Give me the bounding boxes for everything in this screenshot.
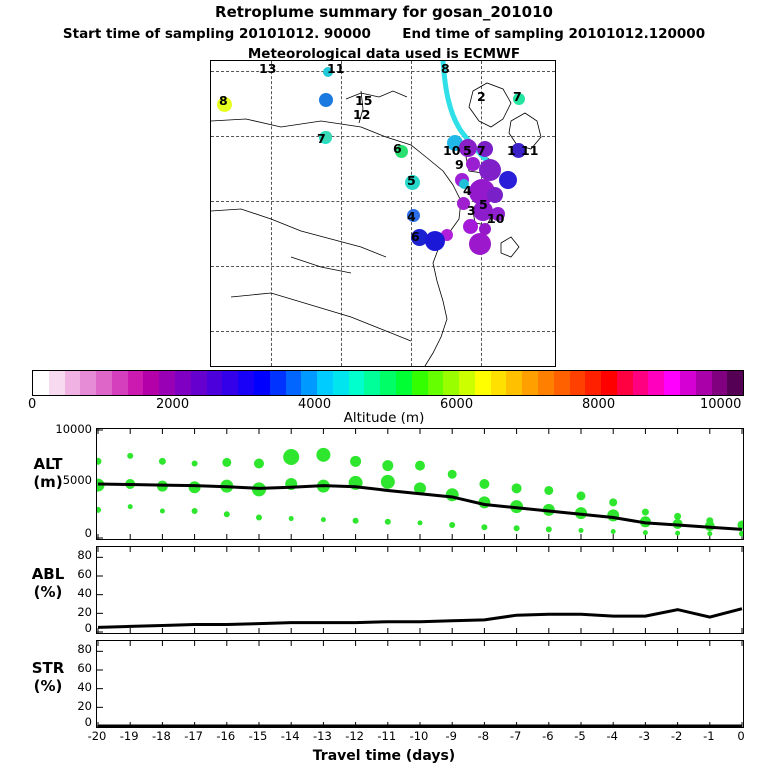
- colorbar-swatch: [254, 371, 270, 395]
- colorbar-swatch: [680, 371, 696, 395]
- x-axis-tick-label: -10: [405, 729, 433, 743]
- end-time-label: End time of sampling 20101012.120000: [402, 26, 705, 42]
- colorbar-swatch: [96, 371, 112, 395]
- alt-data-point: [97, 458, 102, 465]
- alt-data-point: [192, 508, 198, 514]
- abl-ytick: 20: [36, 605, 92, 619]
- colorbar-swatch: [364, 371, 380, 395]
- x-axis-tick-label: -1: [695, 729, 723, 743]
- alt-data-point: [579, 528, 584, 533]
- alt-data-point: [481, 524, 487, 530]
- x-axis-tick-label: -11: [373, 729, 401, 743]
- x-axis-tick-label: -20: [83, 729, 111, 743]
- colorbar-swatch: [333, 371, 349, 395]
- alt-data-point: [707, 531, 712, 536]
- alt-data-point: [222, 458, 231, 467]
- map-dot: [479, 159, 501, 181]
- x-axis-tick-label: -8: [469, 729, 497, 743]
- alt-data-point: [289, 516, 294, 521]
- alt-data-point: [97, 507, 101, 513]
- colorbar-swatch: [554, 371, 570, 395]
- alt-data-point: [674, 513, 681, 520]
- map-cluster-label: 8: [219, 93, 228, 108]
- colorbar-swatch: [238, 371, 254, 395]
- x-axis-title: Travel time (days): [0, 748, 768, 764]
- alt-data-point: [546, 526, 552, 532]
- x-axis-tick-label: -2: [663, 729, 691, 743]
- alt-data-point: [479, 479, 489, 489]
- map-cluster-label: 10: [443, 143, 460, 158]
- map-dot: [466, 157, 480, 171]
- alt-data-point: [609, 498, 617, 506]
- abl-ytick: 0: [36, 621, 92, 635]
- alt-ytick: 0: [36, 526, 92, 540]
- alt-plot: [97, 429, 743, 539]
- colorbar-swatch: [65, 371, 81, 395]
- colorbar-swatch: [648, 371, 664, 395]
- colorbar-swatch: [143, 371, 159, 395]
- alt-data-point: [321, 517, 326, 522]
- colorbar-swatch: [664, 371, 680, 395]
- page-title: Retroplume summary for gosan_201010: [0, 3, 768, 21]
- colorbar-swatch: [712, 371, 728, 395]
- abl-ytick: 80: [36, 548, 92, 562]
- x-axis-tick-label: -16: [212, 729, 240, 743]
- colorbar-swatch: [317, 371, 333, 395]
- map-cluster-label: 9: [455, 157, 464, 172]
- colorbar-swatch: [207, 371, 223, 395]
- colorbar-swatch: [112, 371, 128, 395]
- colorbar-swatch: [538, 371, 554, 395]
- x-axis-tick-label: -5: [566, 729, 594, 743]
- colorbar-title-text: Altitude (m): [344, 410, 425, 426]
- x-axis-tick-label: -14: [276, 729, 304, 743]
- alt-data-point: [415, 461, 425, 471]
- map-cluster-label: 11: [521, 143, 538, 158]
- map-dot: [469, 233, 491, 255]
- alt-data-point: [449, 522, 455, 528]
- abl-line: [98, 609, 742, 628]
- colorbar-swatch: [270, 371, 286, 395]
- alt-data-point: [283, 449, 299, 465]
- colorbar-swatch: [412, 371, 428, 395]
- alt-data-point: [127, 453, 133, 459]
- x-axis-tick-label: -19: [115, 729, 143, 743]
- colorbar-swatch: [570, 371, 586, 395]
- retroplume-map: 13 11 8 8 7 15 12 2 7 6 10 5 9 7 1 11 5 …: [210, 60, 556, 367]
- alt-data-point: [577, 491, 586, 500]
- map-cluster-label: 1: [507, 143, 516, 158]
- abl-ytick: 40: [36, 586, 92, 600]
- colorbar-swatch: [475, 371, 491, 395]
- colorbar-swatch: [633, 371, 649, 395]
- x-axis-tick-label: -7: [502, 729, 530, 743]
- altitude-colorbar: [32, 370, 744, 396]
- map-cluster-label: 5: [407, 173, 416, 188]
- alt-data-point: [512, 483, 522, 493]
- alt-data-point: [128, 504, 133, 509]
- map-cluster-label: 15: [355, 93, 372, 108]
- alt-data-point: [448, 470, 457, 479]
- colorbar-swatch: [506, 371, 522, 395]
- colorbar-swatch: [601, 371, 617, 395]
- map-cluster-label: 5: [479, 197, 488, 212]
- map-cluster-label: 6: [411, 229, 420, 244]
- str-ytick: 0: [36, 715, 92, 729]
- str-plot: [97, 641, 743, 727]
- abl-plot: [97, 547, 743, 633]
- map-cluster-label: 6: [393, 141, 402, 156]
- str-panel: [96, 640, 744, 728]
- map-cluster-label: 5: [463, 143, 472, 158]
- x-axis-tick-label: -15: [244, 729, 272, 743]
- abl-ytick: 60: [36, 567, 92, 581]
- colorbar-swatch: [380, 371, 396, 395]
- colorbar-swatch: [33, 371, 49, 395]
- colorbar-title: Altitude (m): [0, 410, 768, 426]
- abl-panel: [96, 546, 744, 634]
- alt-data-point: [159, 458, 166, 465]
- colorbar-swatch: [301, 371, 317, 395]
- alt-data-point: [643, 530, 648, 535]
- alt-data-point: [385, 519, 391, 525]
- colorbar-swatch: [128, 371, 144, 395]
- alt-data-point: [316, 448, 330, 462]
- alt-ytick: 5000: [36, 473, 92, 487]
- colorbar-swatch: [349, 371, 365, 395]
- map-dot: [487, 187, 503, 203]
- alt-data-point: [544, 486, 553, 495]
- x-axis-tick-label: -12: [341, 729, 369, 743]
- alt-data-point: [192, 460, 198, 466]
- x-axis-tick-label: -18: [147, 729, 175, 743]
- map-cluster-label: 4: [407, 209, 416, 224]
- str-ytick: 40: [36, 680, 92, 694]
- x-axis-tick-label: -9: [437, 729, 465, 743]
- colorbar-swatch: [727, 371, 743, 395]
- alt-data-point: [514, 525, 520, 531]
- alt-data-point: [160, 509, 165, 514]
- alt-data-point: [739, 531, 743, 537]
- x-axis-tick-label: -13: [308, 729, 336, 743]
- alt-data-point: [382, 460, 393, 471]
- alt-panel: [96, 428, 744, 540]
- colorbar-swatch: [396, 371, 412, 395]
- alt-data-point: [642, 509, 649, 516]
- alt-label-name: ALT: [2, 455, 94, 473]
- alt-data-point: [353, 518, 359, 524]
- map-cluster-label: 2: [477, 89, 486, 104]
- colorbar-swatch: [80, 371, 96, 395]
- alt-data-point: [256, 514, 262, 520]
- map-dot: [319, 93, 333, 107]
- map-cluster-label: 8: [441, 61, 450, 76]
- x-axis-tick-label: -6: [534, 729, 562, 743]
- x-axis-tick-label: 0: [727, 729, 755, 743]
- colorbar-swatch: [443, 371, 459, 395]
- str-ytick: 20: [36, 699, 92, 713]
- map-cluster-label: 11: [327, 61, 344, 76]
- colorbar-swatch: [222, 371, 238, 395]
- alt-data-point: [611, 529, 616, 534]
- alt-data-point: [418, 520, 423, 525]
- map-cluster-label: 7: [513, 89, 522, 104]
- colorbar-swatch: [617, 371, 633, 395]
- map-cluster-label: 7: [477, 143, 486, 158]
- map-dot: [499, 171, 517, 189]
- map-dot: [463, 219, 478, 234]
- colorbar-swatch: [696, 371, 712, 395]
- colorbar-swatch: [585, 371, 601, 395]
- colorbar-swatch: [49, 371, 65, 395]
- str-ytick: 80: [36, 642, 92, 656]
- str-ytick: 60: [36, 661, 92, 675]
- alt-data-point: [381, 475, 395, 489]
- map-cluster-label: 10: [487, 211, 504, 226]
- alt-data-point: [254, 458, 264, 468]
- colorbar-swatch: [286, 371, 302, 395]
- alt-ytick: 10000: [36, 422, 92, 436]
- map-cluster-label: 12: [353, 107, 370, 122]
- x-axis-tick-label: -3: [630, 729, 658, 743]
- alt-data-point: [350, 456, 361, 467]
- map-cluster-label: 7: [317, 131, 326, 146]
- colorbar-swatch: [159, 371, 175, 395]
- colorbar-swatch: [191, 371, 207, 395]
- colorbar-swatch: [428, 371, 444, 395]
- sampling-times: Start time of sampling 20101012. 90000 E…: [0, 26, 768, 42]
- x-axis-tick-label: -17: [180, 729, 208, 743]
- colorbar-swatch: [459, 371, 475, 395]
- alt-data-point: [224, 511, 230, 517]
- alt-data-point: [675, 531, 680, 536]
- map-dot: [425, 231, 445, 251]
- colorbar-swatch: [522, 371, 538, 395]
- map-cluster-label: 3: [467, 203, 476, 218]
- colorbar-swatch: [491, 371, 507, 395]
- colorbar-swatch: [175, 371, 191, 395]
- start-time-label: Start time of sampling 20101012. 90000: [63, 26, 371, 42]
- x-axis-tick-label: -4: [598, 729, 626, 743]
- map-cluster-label: 4: [463, 183, 472, 198]
- map-cluster-label: 13: [259, 61, 276, 76]
